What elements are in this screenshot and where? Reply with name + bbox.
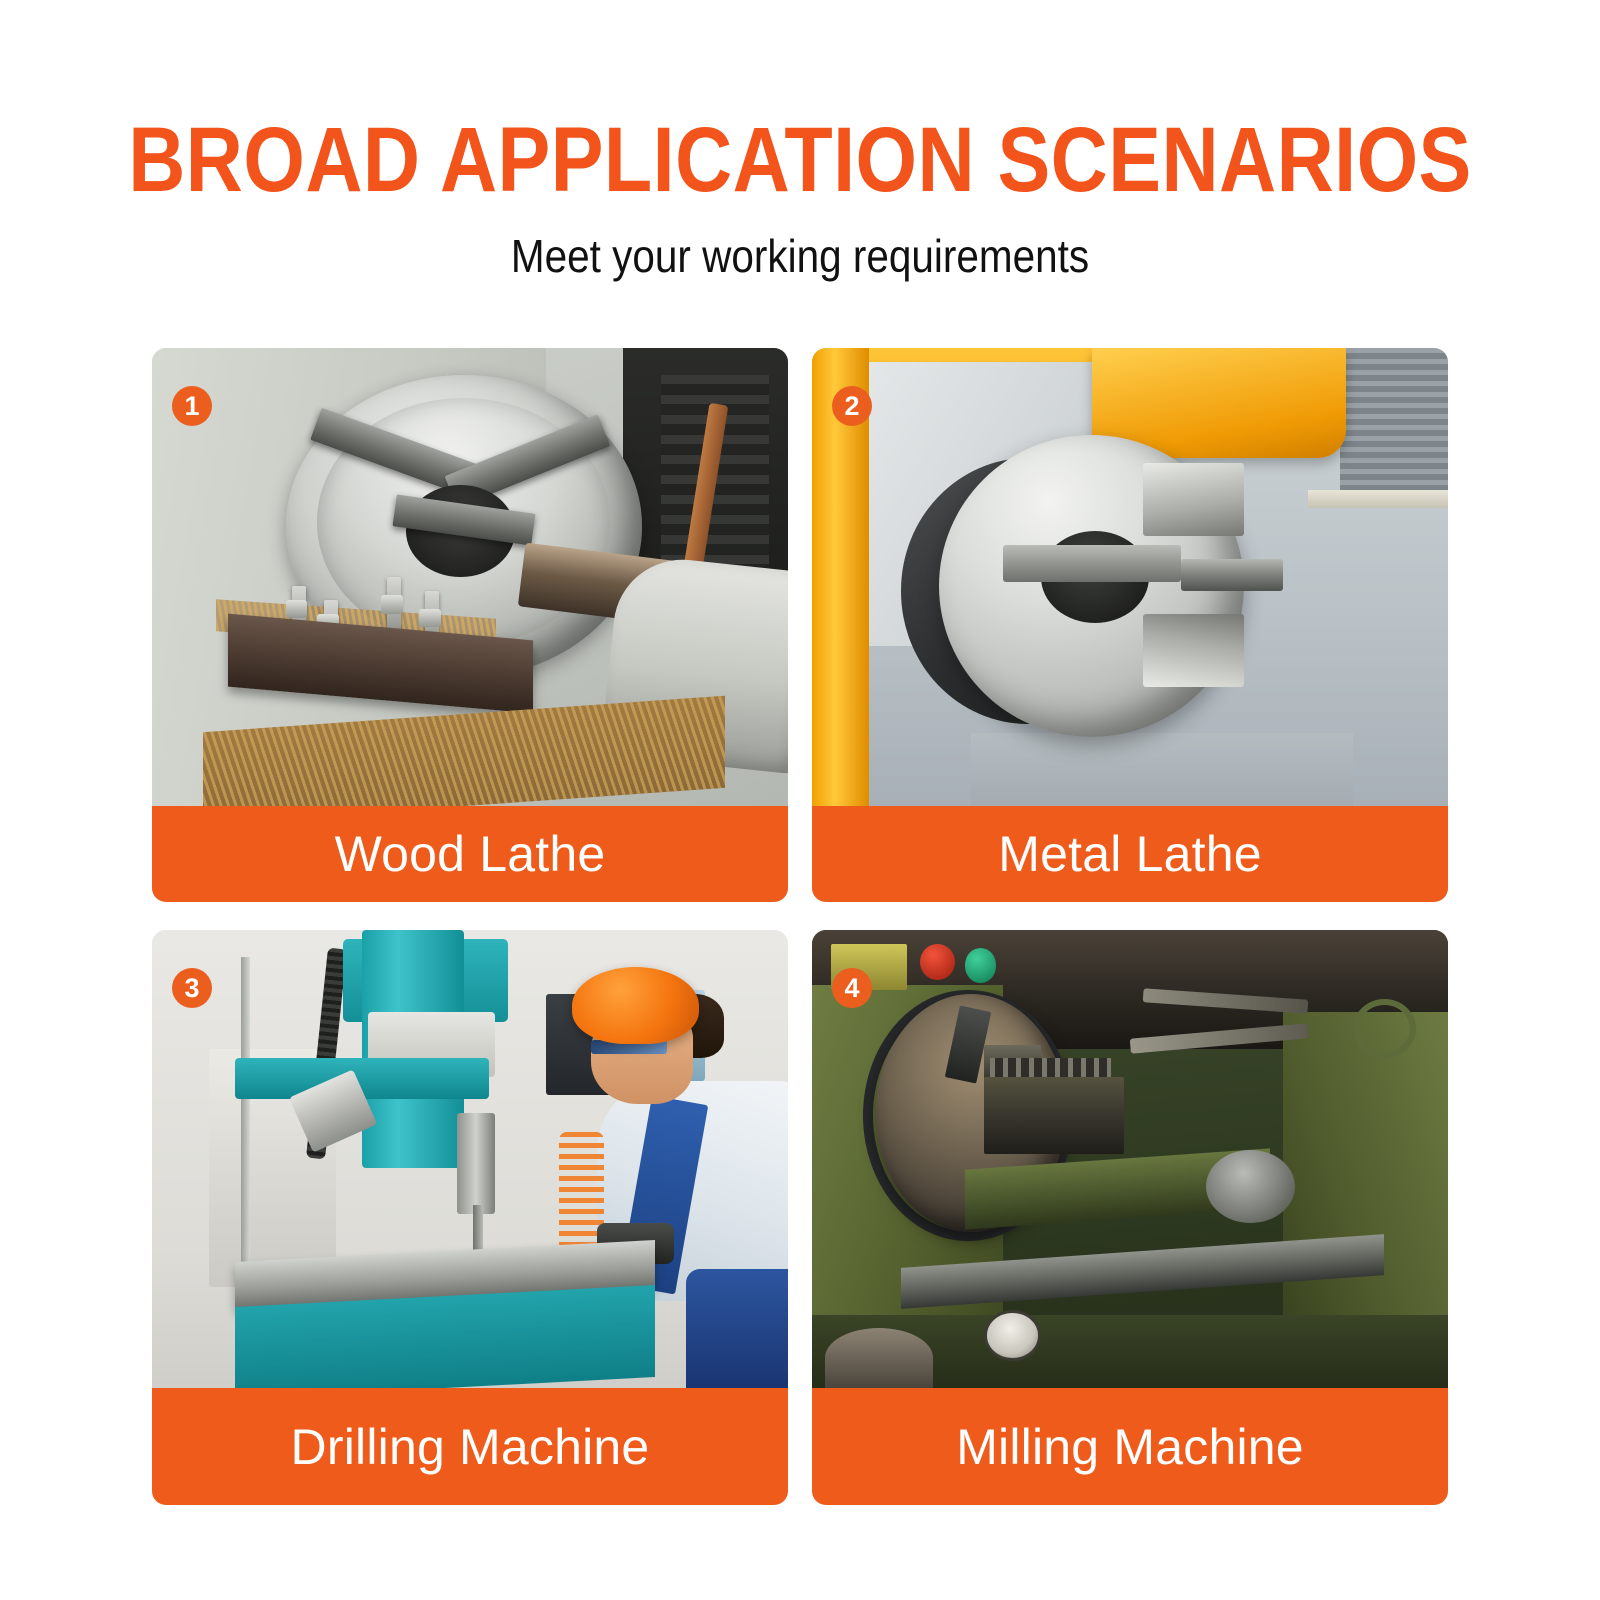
card-badge-2: 2 [832, 386, 872, 426]
card-badge-1: 1 [172, 386, 212, 426]
wood-lathe-photo: 1 [152, 348, 788, 806]
metal-lathe-photo: 2 [812, 348, 1448, 806]
card-label-drilling-machine: Drilling Machine [152, 1388, 788, 1505]
page-title: BROAD APPLICATION SCENARIOS [112, 0, 1488, 208]
card-badge-4: 4 [832, 968, 872, 1008]
scenario-card-wood-lathe[interactable]: 1 Wood Lathe [152, 348, 788, 902]
scenario-card-drilling-machine[interactable]: 3 Drilling Machine [152, 930, 788, 1505]
card-label-wood-lathe: Wood Lathe [152, 806, 788, 902]
card-label-metal-lathe: Metal Lathe [812, 806, 1448, 902]
scenario-card-milling-machine[interactable]: 4 Milling Machine [812, 930, 1448, 1505]
scenario-card-grid: 1 Wood Lathe 2 Metal [152, 348, 1448, 1505]
milling-machine-photo: 4 [812, 930, 1448, 1388]
card-label-milling-machine: Milling Machine [812, 1388, 1448, 1505]
scenario-card-metal-lathe[interactable]: 2 Metal Lathe [812, 348, 1448, 902]
header: BROAD APPLICATION SCENARIOS Meet your wo… [0, 0, 1600, 282]
card-badge-3: 3 [172, 968, 212, 1008]
page-subtitle: Meet your working requirements [96, 208, 1504, 282]
drilling-machine-photo: 3 [152, 930, 788, 1388]
